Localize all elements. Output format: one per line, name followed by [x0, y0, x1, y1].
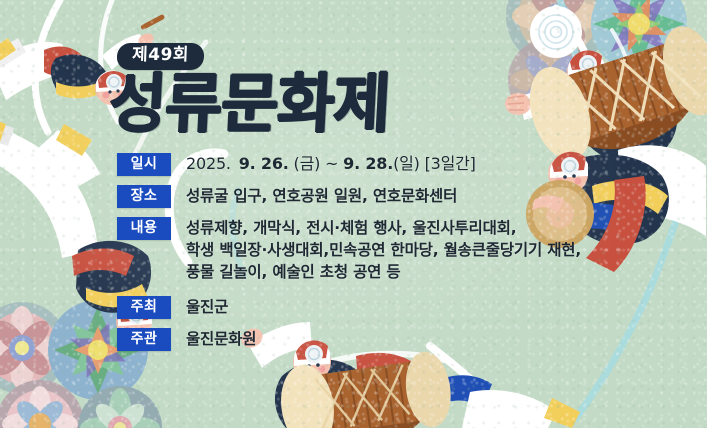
info-row-date: 일시 2025. 9. 26. (금) ~ 9. 28.(일) [3일간] [117, 153, 677, 176]
info-value-organizer: 울진문화원 [186, 328, 256, 350]
info-row-host: 주최 울진군 [117, 296, 677, 319]
date-year: 2025. [186, 154, 231, 173]
info-value-content: 성류제향, 개막식, 전시·체험 행사, 울진사투리대회, 학생 백일장·사생대… [186, 217, 581, 283]
info-label-organizer: 주관 [117, 328, 171, 351]
page-title: 성류문화제 [108, 72, 392, 136]
info-label-host: 주최 [117, 296, 171, 319]
info-row-place: 장소 성류굴 입구, 연호공원 일원, 연호문화센터 [117, 185, 677, 208]
content-line-2: 학생 백일장·사생대회,민속공연 한마당, 월송큰줄당기기 재현, [186, 239, 581, 261]
festival-poster: 제49회 성류문화제 일시 2025. 9. 26. (금) ~ 9. 28.(… [0, 0, 707, 428]
info-row-content: 내용 성류제향, 개막식, 전시·체험 행사, 울진사투리대회, 학생 백일장·… [117, 217, 677, 283]
date-end: 9. 28. [343, 154, 393, 173]
content-line-3: 풍물 길놀이, 예술인 초청 공연 등 [186, 261, 581, 283]
info-value-date: 2025. 9. 26. (금) ~ 9. 28.(일) [3일간] [186, 153, 476, 176]
poster-content: 제49회 성류문화제 일시 2025. 9. 26. (금) ~ 9. 28.(… [0, 0, 707, 428]
date-duration: [3일간] [425, 154, 476, 173]
info-value-host: 울진군 [186, 296, 228, 318]
info-label-date: 일시 [117, 153, 171, 176]
info-value-place: 성류굴 입구, 연호공원 일원, 연호문화센터 [186, 185, 457, 207]
info-label-place: 장소 [117, 185, 171, 208]
date-start-day: (금) [294, 154, 321, 173]
info-label-content: 내용 [117, 217, 171, 240]
organizer-line-1: 울진문화원 [186, 328, 256, 350]
place-line-1: 성류굴 입구, 연호공원 일원, 연호문화센터 [186, 185, 457, 207]
info-row-organizer: 주관 울진문화원 [117, 328, 677, 351]
host-line-1: 울진군 [186, 296, 228, 318]
date-end-day: (일) [393, 154, 420, 173]
date-tilde: ~ [325, 154, 338, 173]
date-start: 9. 26. [239, 154, 289, 173]
info-rows: 일시 2025. 9. 26. (금) ~ 9. 28.(일) [3일간] 장소 [117, 153, 677, 360]
content-line-1: 성류제향, 개막식, 전시·체험 행사, 울진사투리대회, [186, 217, 581, 239]
